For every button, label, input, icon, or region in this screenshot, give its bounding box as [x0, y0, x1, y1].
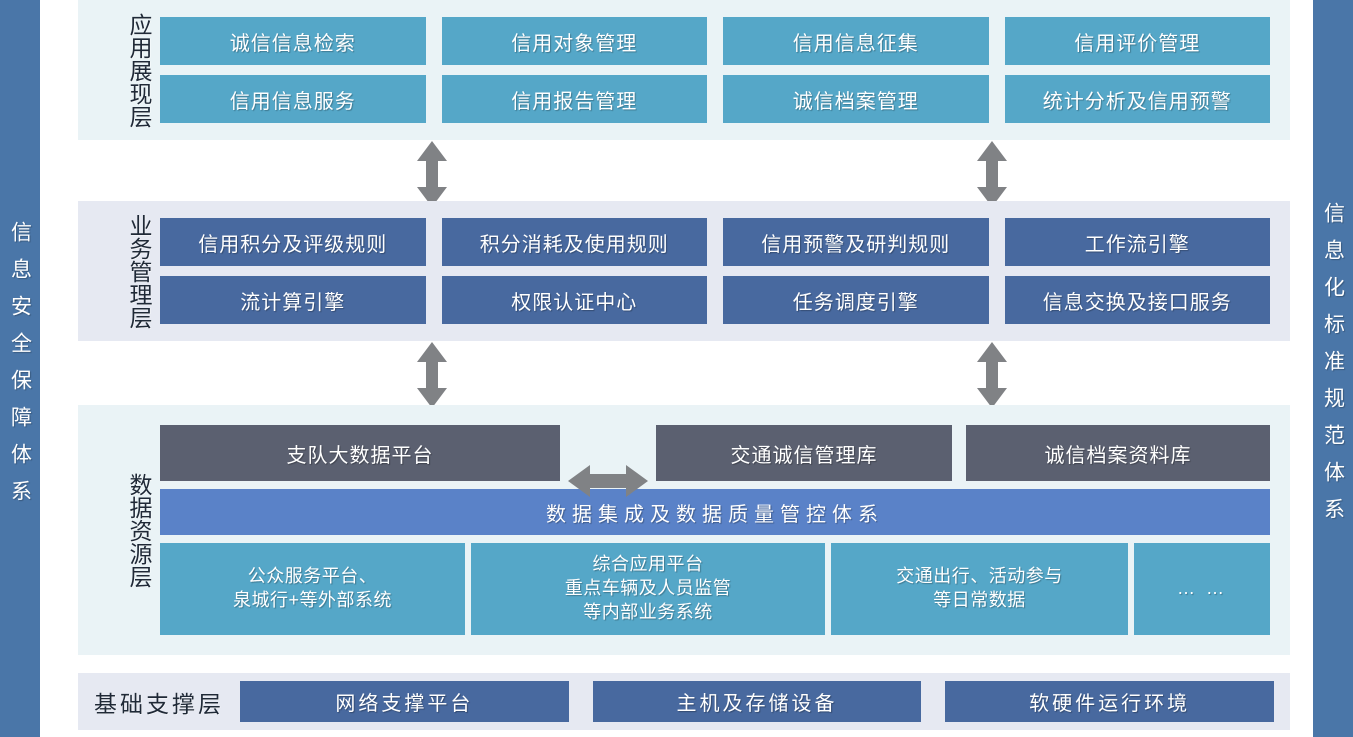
infra-box-runtime-environment[interactable]: 软硬件运行环境 [945, 681, 1274, 722]
biz-box-task-scheduler[interactable]: 任务调度引擎 [723, 276, 989, 324]
application-row-2: 信用信息服务 信用报告管理 诚信档案管理 统计分析及信用预警 [160, 75, 1270, 123]
app-box-credit-eval-mgmt[interactable]: 信用评价管理 [1005, 17, 1271, 65]
biz-box-exchange-interface[interactable]: 信息交换及接口服务 [1005, 276, 1271, 324]
src-box-ellipsis[interactable]: … … [1134, 543, 1270, 635]
arrow-app-to-business-left [414, 141, 450, 207]
infra-box-host-and-storage[interactable]: 主机及存储设备 [593, 681, 922, 722]
data-integration-bar[interactable]: 数据集成及数据质量管控体系 [160, 489, 1270, 535]
infrastructure-layer-label: 基础支撑层 [94, 685, 224, 719]
biz-box-points-usage-rules[interactable]: 积分消耗及使用规则 [442, 218, 708, 266]
security-rail: 信息安全保障体系 [0, 0, 40, 737]
business-layer-grid: 信用积分及评级规则 积分消耗及使用规则 信用预警及研判规则 工作流引擎 流计算引… [160, 211, 1270, 331]
data-layer-label: 数据资源层 [96, 473, 150, 588]
infrastructure-cells: 网络支撑平台 主机及存储设备 软硬件运行环境 [240, 681, 1274, 722]
arrow-app-to-business-right [974, 141, 1010, 207]
infrastructure-layer-panel: 基础支撑层 网络支撑平台 主机及存储设备 软硬件运行环境 [78, 673, 1290, 730]
application-row-1: 诚信信息检索 信用对象管理 信用信息征集 信用评价管理 [160, 17, 1270, 65]
app-box-credit-info-service[interactable]: 信用信息服务 [160, 75, 426, 123]
business-row-1: 信用积分及评级规则 积分消耗及使用规则 信用预警及研判规则 工作流引擎 [160, 218, 1270, 266]
biz-box-credit-score-rules[interactable]: 信用积分及评级规则 [160, 218, 426, 266]
app-box-credit-info-collect[interactable]: 信用信息征集 [723, 17, 989, 65]
db-box-credit-archive-db[interactable]: 诚信档案资料库 [966, 425, 1270, 481]
src-box-integrated-app-platform[interactable]: 综合应用平台 重点车辆及人员监管 等内部业务系统 [471, 543, 825, 635]
src-box-daily-travel-data[interactable]: 交通出行、活动参与 等日常数据 [831, 543, 1128, 635]
src-box-public-service-platform[interactable]: 公众服务平台、 泉城行+等外部系统 [160, 543, 465, 635]
application-layer-grid: 诚信信息检索 信用对象管理 信用信息征集 信用评价管理 信用信息服务 信用报告管… [160, 10, 1270, 130]
data-layer-panel: 数据资源层 支队大数据平台 交通诚信管理库 诚信档案资料库 数据集成及数据质量管… [78, 405, 1290, 655]
app-box-credit-info-search[interactable]: 诚信信息检索 [160, 17, 426, 65]
arrow-business-to-data-right [974, 342, 1010, 408]
data-layer-grid: 支队大数据平台 交通诚信管理库 诚信档案资料库 数据集成及数据质量管控体系 公众… [160, 425, 1270, 635]
database-row: 支队大数据平台 交通诚信管理库 诚信档案资料库 [160, 425, 1270, 481]
application-layer-panel: 应用展现层 诚信信息检索 信用对象管理 信用信息征集 信用评价管理 信用信息服务… [78, 0, 1290, 140]
business-layer-panel: 业务管理层 信用积分及评级规则 积分消耗及使用规则 信用预警及研判规则 工作流引… [78, 201, 1290, 341]
db-box-brigade-bigdata-platform[interactable]: 支队大数据平台 [160, 425, 560, 481]
biz-box-warning-judge-rules[interactable]: 信用预警及研判规则 [723, 218, 989, 266]
security-rail-label: 信息安全保障体系 [10, 221, 31, 517]
app-box-credit-report-mgmt[interactable]: 信用报告管理 [442, 75, 708, 123]
infra-box-network-platform[interactable]: 网络支撑平台 [240, 681, 569, 722]
business-layer-label: 业务管理层 [96, 214, 150, 329]
app-box-stats-and-warning[interactable]: 统计分析及信用预警 [1005, 75, 1271, 123]
db-box-traffic-credit-mgmt-db[interactable]: 交通诚信管理库 [656, 425, 952, 481]
biz-box-auth-center[interactable]: 权限认证中心 [442, 276, 708, 324]
app-box-credit-subject-mgmt[interactable]: 信用对象管理 [442, 17, 708, 65]
biz-box-workflow-engine[interactable]: 工作流引擎 [1005, 218, 1271, 266]
biz-box-stream-compute-engine[interactable]: 流计算引擎 [160, 276, 426, 324]
application-layer-label: 应用展现层 [96, 13, 150, 128]
arrow-bigdata-to-creditdb [568, 461, 648, 501]
standards-rail: 信息化标准规范体系 [1313, 0, 1353, 737]
app-box-credit-archive-mgmt[interactable]: 诚信档案管理 [723, 75, 989, 123]
architecture-diagram: 信息安全保障体系 信息化标准规范体系 应用展现层 诚信信息检索 信用对象管理 信… [0, 0, 1353, 737]
standards-rail-label: 信息化标准规范体系 [1323, 202, 1344, 535]
arrow-business-to-data-left [414, 342, 450, 408]
data-source-row: 公众服务平台、 泉城行+等外部系统 综合应用平台 重点车辆及人员监管 等内部业务… [160, 543, 1270, 635]
business-row-2: 流计算引擎 权限认证中心 任务调度引擎 信息交换及接口服务 [160, 276, 1270, 324]
